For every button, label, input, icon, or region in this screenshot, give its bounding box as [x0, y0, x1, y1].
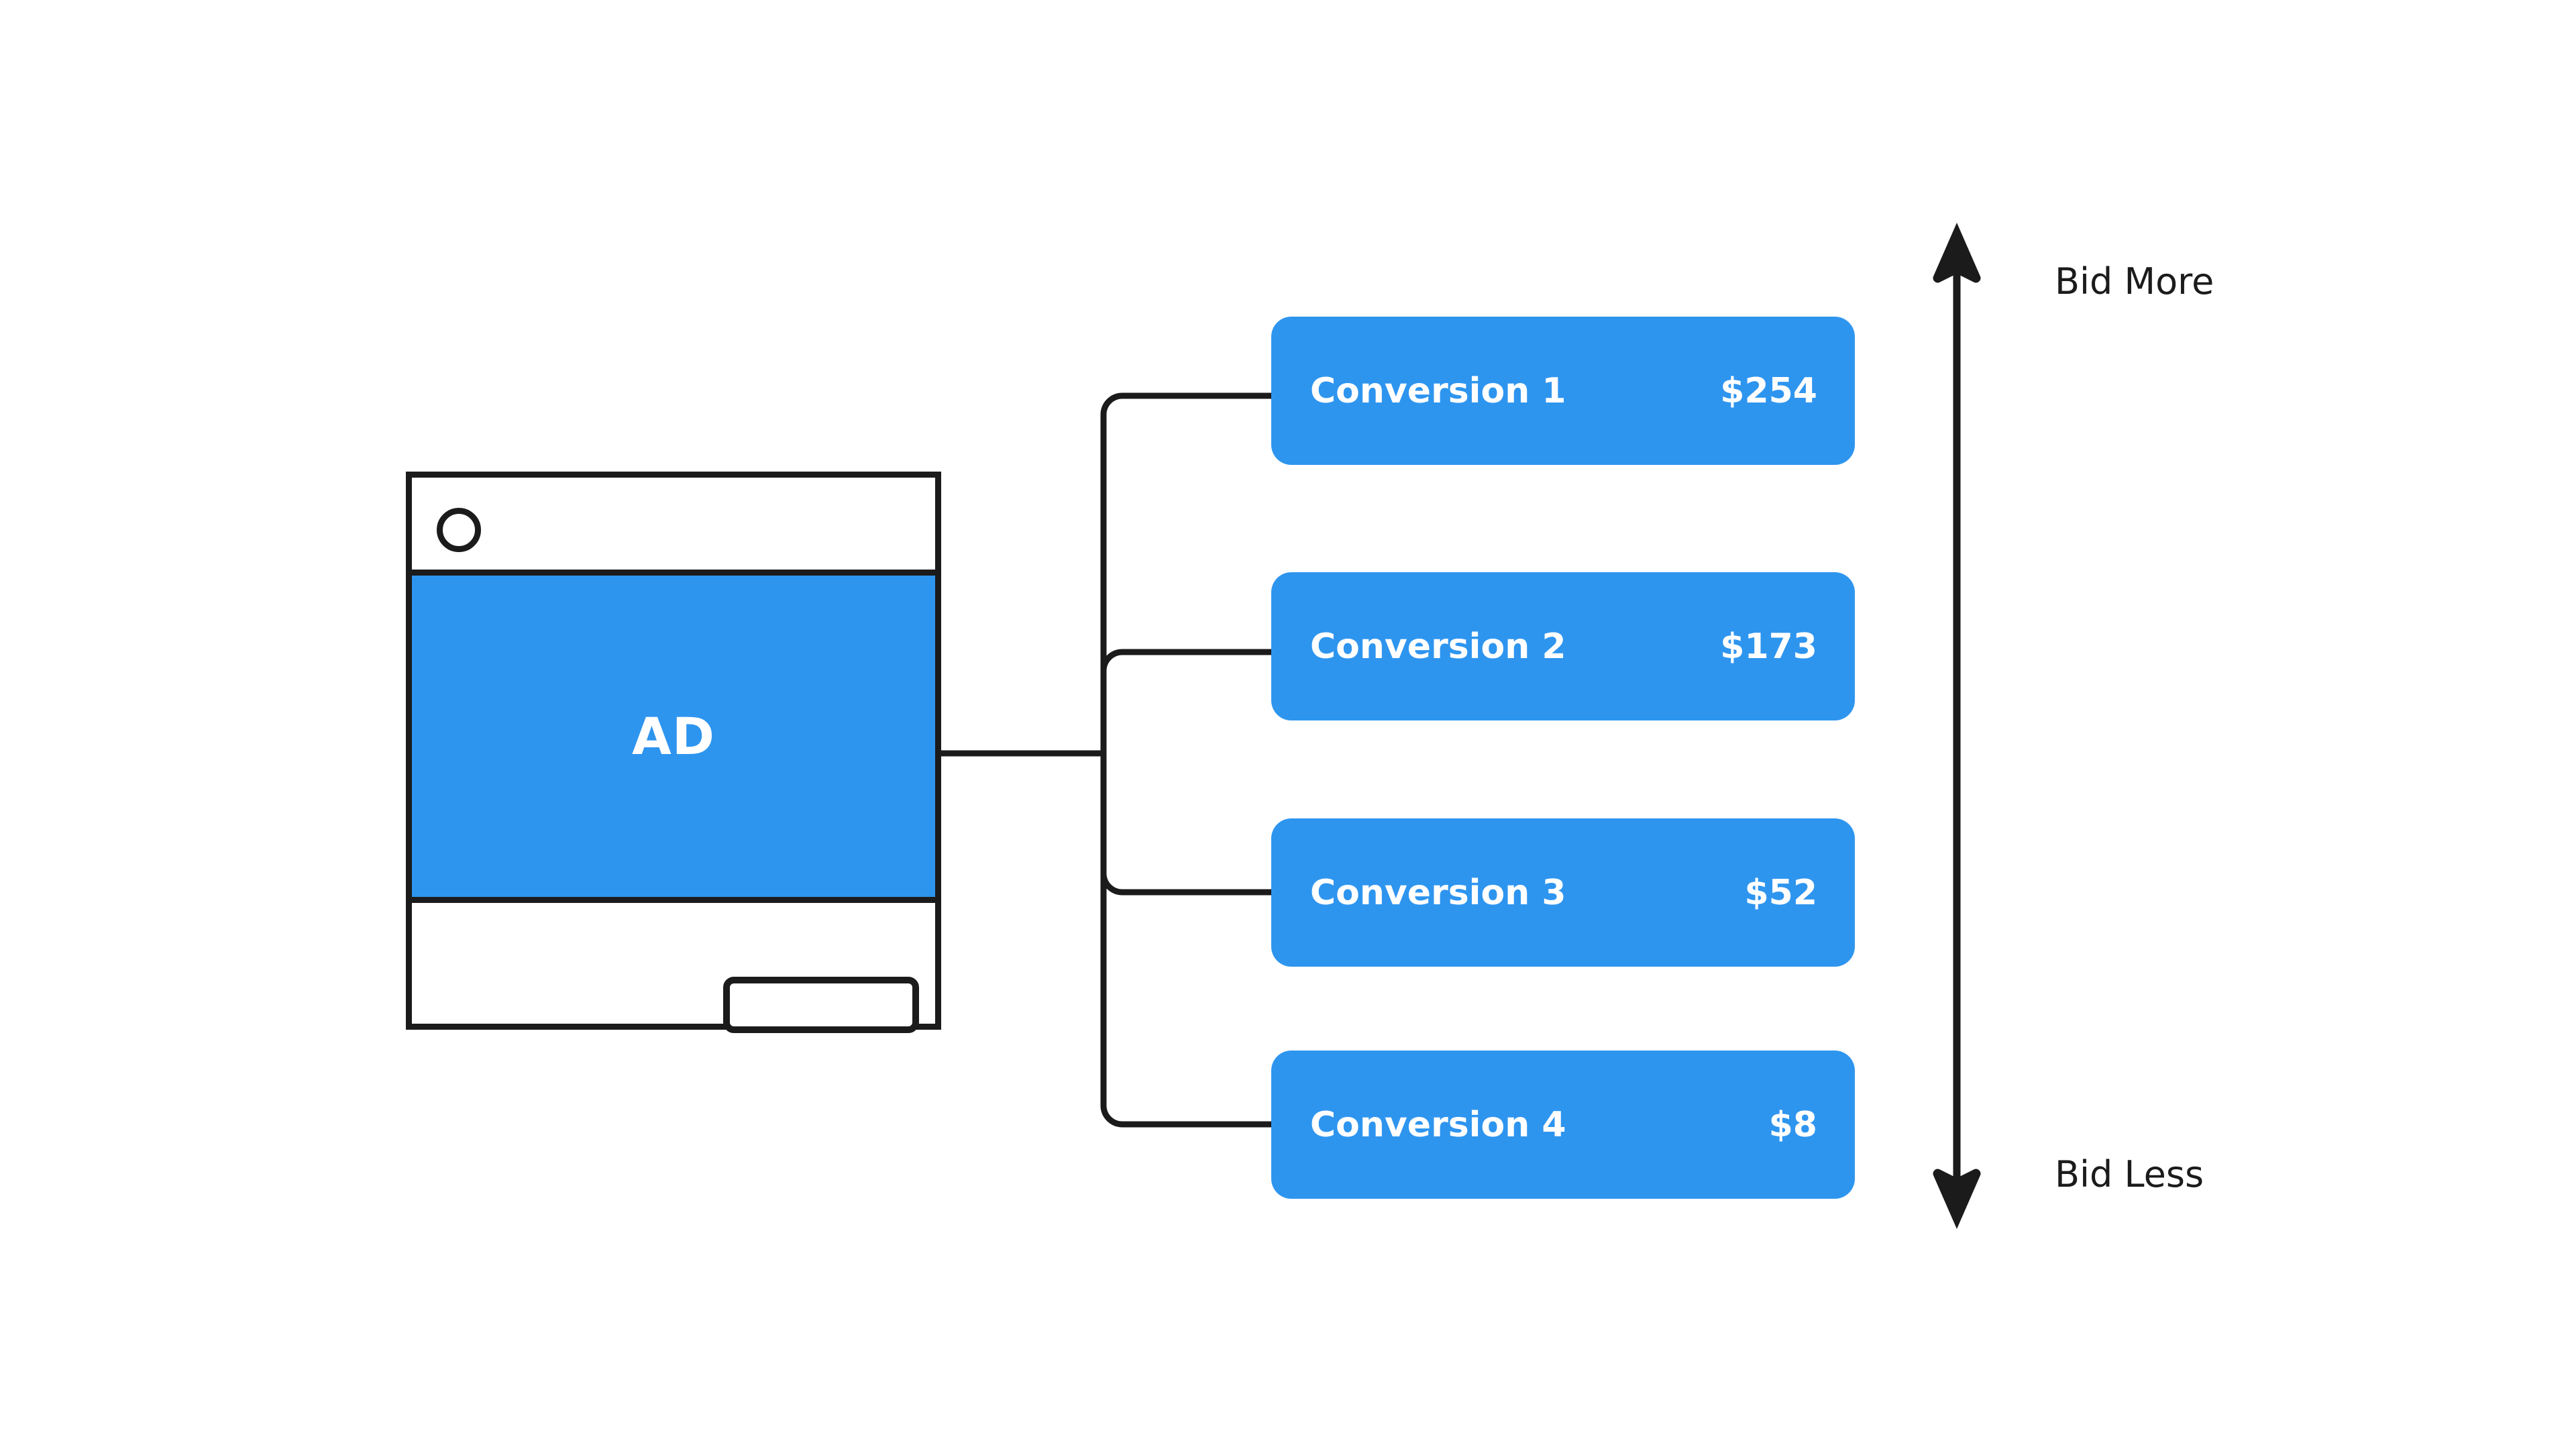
arrow-up-icon [1933, 223, 1981, 282]
profile-circle-icon [437, 508, 481, 552]
ad-card-header [412, 478, 935, 576]
connector-branch-1 [1104, 396, 1271, 753]
connector-branch-2 [1104, 652, 1271, 753]
bid-less-label: Bid Less [2055, 1157, 2204, 1193]
connector-branch-4 [1104, 753, 1271, 1124]
conversion-value: $52 [1744, 875, 1817, 910]
connector-branch-3 [1104, 753, 1271, 892]
conversion-card-2[interactable]: Conversion 2 $173 [1271, 572, 1855, 720]
connector-lines [0, 0, 2576, 1449]
conversion-card-3[interactable]: Conversion 3 $52 [1271, 818, 1855, 967]
conversion-value: $8 [1769, 1108, 1817, 1142]
conversion-label: Conversion 2 [1310, 629, 1566, 664]
conversion-label: Conversion 4 [1310, 1108, 1566, 1142]
ad-cta-button[interactable] [723, 977, 919, 1033]
conversion-value: $173 [1720, 629, 1817, 664]
ad-media-label: AD [632, 711, 715, 762]
conversion-label: Conversion 3 [1310, 875, 1566, 910]
diagram-canvas: AD Conversion 1 $254 Conversion 2 $173 C… [0, 0, 2576, 1449]
bid-more-label: Bid More [2055, 264, 2214, 300]
ad-media-area: AD [412, 576, 935, 903]
conversion-card-1[interactable]: Conversion 1 $254 [1271, 317, 1855, 465]
conversion-label: Conversion 1 [1310, 374, 1566, 409]
conversion-value: $254 [1720, 374, 1817, 409]
ad-card-footer [412, 903, 935, 1024]
bid-axis-arrow [1933, 223, 1981, 1229]
arrow-down-icon [1933, 1169, 1981, 1229]
conversion-card-4[interactable]: Conversion 4 $8 [1271, 1051, 1855, 1199]
ad-creative-card[interactable]: AD [406, 472, 941, 1030]
